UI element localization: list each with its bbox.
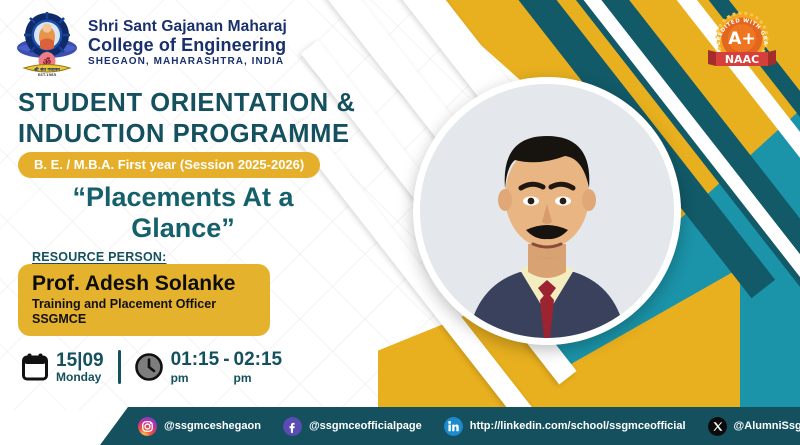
calendar-icon: [22, 353, 48, 381]
college-location: SHEGAON, MAHARASHTRA, INDIA: [88, 57, 287, 67]
resource-person-organization: SSGMCE: [32, 312, 256, 326]
college-name-line1: Shri Sant Gajanan Maharaj: [88, 19, 287, 35]
resource-person-name: Prof. Adesh Solanke: [32, 272, 256, 295]
schedule-row: 15|09 Monday 01:15 pm - 02:15 pm: [22, 349, 282, 385]
event-title-line1: STUDENT ORIENTATION &: [18, 88, 355, 119]
event-topic: “Placements At a Glance”: [18, 182, 348, 244]
social-link-x-twitter[interactable]: @AlumniSsgmce: [708, 417, 800, 436]
event-time-end: 02:15: [234, 349, 283, 371]
event-title-line2: INDUCTION PROGRAMME: [18, 119, 355, 150]
clock-icon: [135, 353, 163, 381]
event-time-start: 01:15: [171, 349, 220, 371]
social-links-list: @ssgmceshegaon @ssgmceofficialpage http:…: [0, 417, 800, 436]
svg-text:EST.1983: EST.1983: [38, 73, 57, 76]
x-twitter-icon[interactable]: [708, 417, 727, 436]
event-date: 15|09: [56, 351, 104, 371]
instagram-icon[interactable]: [138, 417, 157, 436]
event-day: Monday: [56, 371, 104, 384]
resource-person-role: Training and Placement Officer: [32, 297, 256, 311]
eligibility-badge: B. E. / M.B.A. First year (Session 2025-…: [18, 152, 320, 178]
portrait-photo: [420, 84, 674, 338]
social-link-facebook[interactable]: @ssgmceofficialpage: [283, 417, 422, 436]
svg-text:श्री संत गजानन: श्री संत गजानन: [33, 66, 60, 73]
event-topic-line2: Glance”: [18, 213, 348, 244]
facebook-icon[interactable]: [283, 417, 302, 436]
college-name-block: Shri Sant Gajanan Maharaj College of Eng…: [88, 19, 287, 67]
time-separator: -: [223, 349, 229, 385]
event-time-start-meridiem: pm: [171, 371, 220, 385]
event-poster: ॐ श्री संत गजानन EST.1983 Shri Sant Gaja…: [0, 0, 800, 445]
social-handle-instagram: @ssgmceshegaon: [164, 420, 261, 432]
event-title: STUDENT ORIENTATION & INDUCTION PROGRAMM…: [18, 88, 355, 150]
naac-badge-icon: ACCREDITED WITH GRADE A+ NAAC: [706, 8, 778, 72]
naac-body: NAAC: [725, 53, 759, 66]
speaker-photo: [413, 77, 681, 345]
social-link-linkedin[interactable]: http://linkedin.com/school/ssgmceofficia…: [444, 417, 686, 436]
event-topic-line1: “Placements At a: [18, 182, 348, 213]
naac-grade: A+: [728, 29, 755, 49]
schedule-divider: [118, 350, 121, 384]
social-handle-facebook: @ssgmceofficialpage: [309, 420, 422, 432]
college-name-line2: College of Engineering: [88, 36, 287, 54]
social-link-instagram[interactable]: @ssgmceshegaon: [138, 417, 261, 436]
social-handle-linkedin: http://linkedin.com/school/ssgmceofficia…: [470, 420, 686, 432]
resource-person-card: Prof. Adesh Solanke Training and Placeme…: [18, 264, 270, 336]
institution-header: ॐ श्री संत गजानन EST.1983 Shri Sant Gaja…: [16, 10, 287, 76]
time-block: 01:15 pm - 02:15 pm: [135, 349, 283, 385]
resource-person-label: RESOURCE PERSON:: [32, 250, 166, 264]
college-crest-icon: ॐ श्री संत गजानन EST.1983: [16, 10, 78, 76]
social-handle-x-twitter: @AlumniSsgmce: [734, 420, 800, 432]
event-time-end-meridiem: pm: [234, 371, 283, 385]
linkedin-icon[interactable]: [444, 417, 463, 436]
date-block: 15|09 Monday: [22, 351, 104, 384]
